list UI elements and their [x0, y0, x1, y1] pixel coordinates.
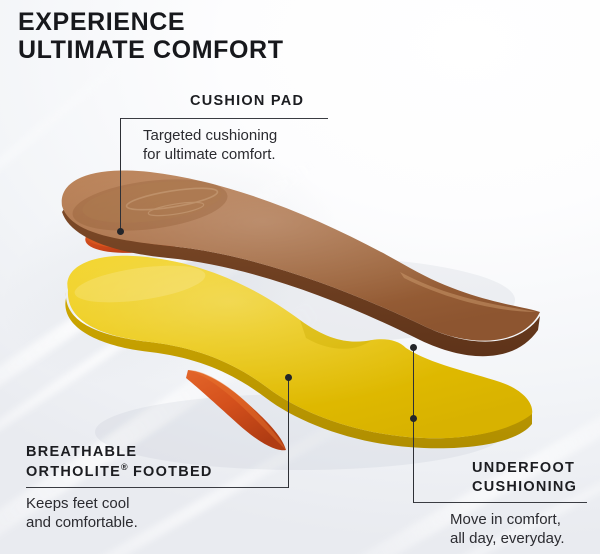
infographic-canvas: EXPERIENCE ULTIMATE COMFORT CUSHION PAD … — [0, 0, 600, 554]
callout-heading-line-2: CUSHIONING — [472, 478, 577, 497]
callout-cushion-pad: CUSHION PAD — [190, 92, 304, 111]
registered-trademark-icon: ® — [121, 462, 128, 472]
callout-heading-cushion-pad: CUSHION PAD — [190, 92, 304, 111]
leader-dot-underfoot-insole — [410, 344, 417, 351]
callout-heading-line-1: UNDERFOOT — [472, 459, 577, 478]
callout-body-underfoot-cushioning: Move in comfort, all day, everyday. — [450, 510, 565, 548]
callout-body-line-1: Move in comfort, — [450, 510, 565, 529]
callout-body-cushion-pad: Targeted cushioning for ultimate comfort… — [143, 126, 277, 164]
footbed-label: FOOTBED — [128, 464, 213, 480]
callout-body-line-1: Targeted cushioning — [143, 126, 277, 145]
callout-body-line-2: for ultimate comfort. — [143, 145, 277, 164]
title-line-2: ULTIMATE COMFORT — [18, 36, 284, 64]
callout-rule-breathable-ortholite-footbed — [26, 487, 289, 488]
leader-dot-breathable-ortholite-footbed — [285, 374, 292, 381]
leader-dot-underfoot-footbed — [410, 415, 417, 422]
ortholite-label: ORTHOLITE — [26, 464, 121, 480]
callout-underfoot-cushioning: UNDERFOOT CUSHIONING — [472, 459, 577, 497]
title-line-1: EXPERIENCE — [18, 8, 284, 36]
leader-line-breathable-ortholite-footbed — [288, 378, 289, 488]
callout-breathable-ortholite-footbed: BREATHABLE ORTHOLITE® FOOTBED — [26, 443, 213, 482]
callout-body-line-1: Keeps feet cool — [26, 494, 138, 513]
callout-body-line-2: and comfortable. — [26, 513, 138, 532]
leader-dot-cushion-pad — [117, 228, 124, 235]
leader-line-underfoot-cushioning — [413, 347, 414, 503]
leader-line-cushion-pad — [120, 118, 121, 232]
page-title: EXPERIENCE ULTIMATE COMFORT — [18, 8, 284, 65]
callout-heading-line-2: ORTHOLITE® FOOTBED — [26, 462, 213, 482]
callout-heading-line-1: BREATHABLE — [26, 443, 213, 462]
callout-rule-underfoot-cushioning — [413, 502, 587, 503]
callout-body-breathable-ortholite-footbed: Keeps feet cool and comfortable. — [26, 494, 138, 532]
callout-body-line-2: all day, everyday. — [450, 529, 565, 548]
callout-rule-cushion-pad — [120, 118, 328, 119]
